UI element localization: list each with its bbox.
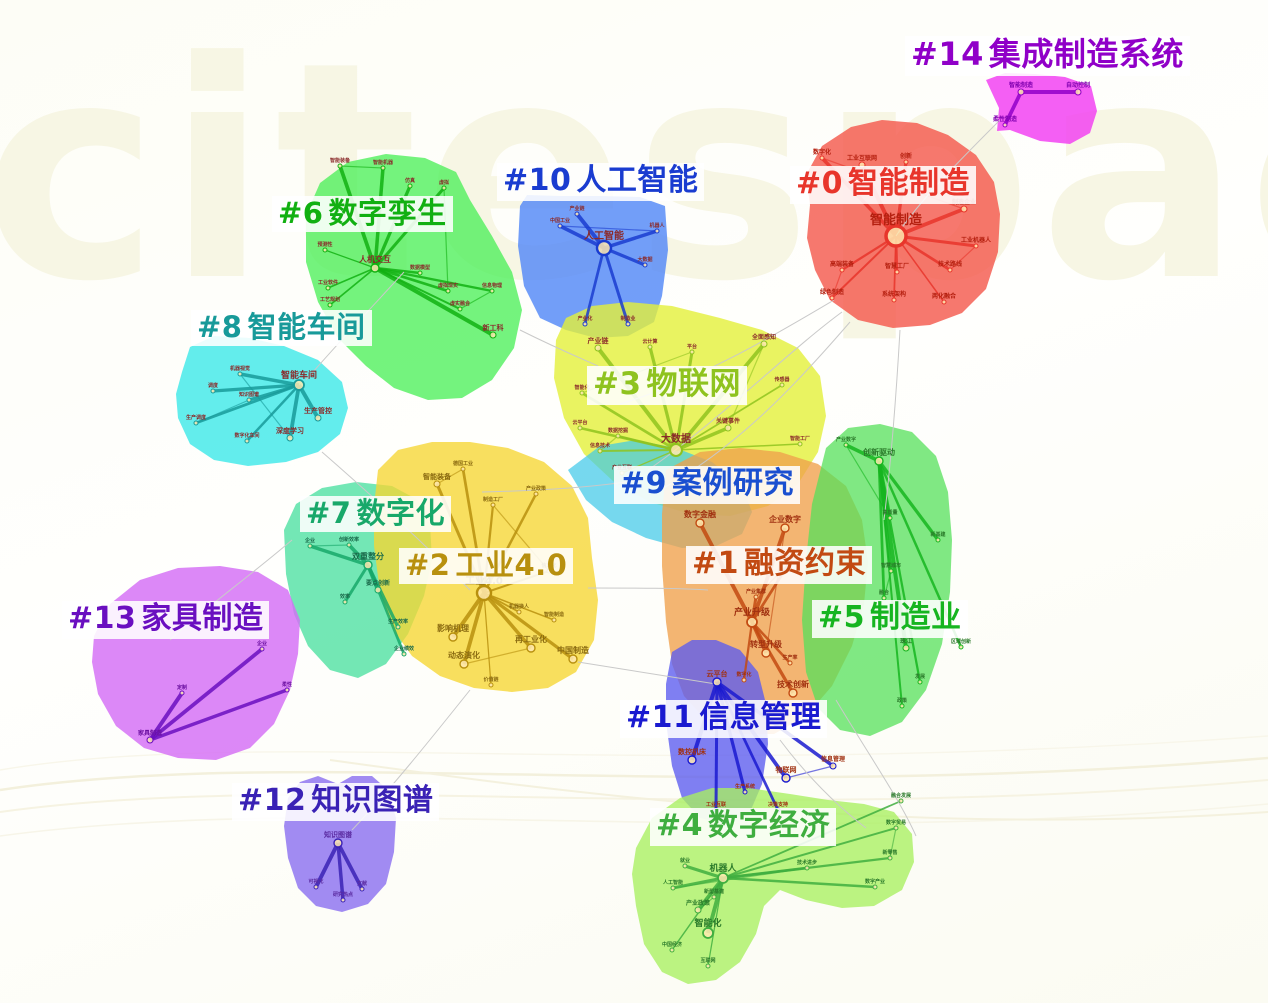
cluster-label-13[interactable]: #13家具制造	[62, 601, 269, 639]
node-marker[interactable]	[326, 286, 330, 290]
node-marker[interactable]	[706, 964, 710, 968]
node-term-label: 发展	[914, 673, 925, 680]
node-term-label: 机器视觉	[229, 365, 250, 372]
node-term-label: 动态演化	[448, 650, 480, 660]
node-marker[interactable]	[517, 610, 521, 614]
node-term-label: 要点创新	[366, 579, 390, 587]
node-marker[interactable]	[527, 644, 535, 652]
node-term-label: 新零售	[882, 849, 897, 856]
cluster-hull-13	[92, 566, 300, 760]
node-marker[interactable]	[211, 389, 215, 393]
node-term-label: 企业数字	[768, 514, 801, 524]
node-marker[interactable]	[974, 244, 978, 248]
node-term-label: 信息技术	[590, 442, 610, 449]
node-term-label: 云平台	[707, 669, 728, 678]
node-term-label: 物联网	[776, 765, 797, 774]
node-term-label: 生产系统	[735, 783, 755, 790]
cluster-label-0[interactable]: #0智能制造	[790, 166, 976, 204]
node-term-label: 创新效率	[338, 536, 359, 543]
node-term-label: 柔性	[281, 681, 292, 688]
node-marker[interactable]	[147, 737, 153, 743]
node-marker[interactable]	[690, 350, 694, 354]
node-term-label: 数控机床	[678, 747, 707, 756]
node-marker[interactable]	[323, 248, 327, 252]
node-marker[interactable]	[873, 885, 877, 889]
node-term-label: 生产率	[782, 654, 797, 661]
node-marker[interactable]	[458, 307, 462, 311]
node-term-label: 关键事件	[716, 417, 740, 425]
node-term-label: 智能机器	[373, 159, 394, 166]
node-marker[interactable]	[780, 383, 784, 387]
node-term-label: 制造工厂	[483, 496, 503, 503]
node-marker[interactable]	[670, 948, 674, 952]
node-marker[interactable]	[754, 595, 758, 599]
node-marker[interactable]	[334, 839, 342, 847]
cluster-number: #8	[197, 310, 242, 344]
cluster-number: #1	[692, 546, 739, 581]
node-term-label: 区域创新	[951, 638, 971, 645]
cluster-number: #4	[656, 808, 703, 843]
node-term-label: 企业绩效	[393, 645, 414, 652]
node-marker[interactable]	[762, 649, 770, 657]
node-marker[interactable]	[725, 425, 731, 431]
node-term-label: 虚拟	[439, 179, 449, 186]
node-term-label: 研究热点	[333, 891, 353, 898]
node-term-label: 中国工业	[550, 217, 570, 224]
cluster-hull-6	[306, 154, 522, 400]
node-term-label: 转型升级	[750, 639, 783, 649]
node-term-label: 人工智能	[662, 879, 683, 886]
node-term-label: 新基建	[930, 531, 946, 538]
node-term-label: 机器人	[709, 862, 737, 874]
node-marker[interactable]	[598, 449, 602, 453]
node-marker[interactable]	[534, 492, 538, 496]
node-term-label: 效率	[340, 593, 350, 600]
node-term-label: 仿真	[405, 177, 415, 184]
node-marker[interactable]	[718, 873, 728, 883]
node-term-label: 产业链	[588, 336, 609, 345]
node-term-label: 生产管控	[304, 406, 332, 415]
node-term-label: 文献	[357, 880, 367, 887]
node-marker[interactable]	[670, 444, 682, 456]
node-term-label: 智慧城市	[881, 562, 901, 569]
node-term-label: 高质量	[882, 509, 897, 516]
cluster-name: 工业4.0	[455, 548, 567, 582]
node-term-label: 技术进步	[797, 859, 817, 866]
node-marker[interactable]	[1018, 89, 1024, 95]
node-term-label: 工业互联网	[847, 154, 877, 162]
cluster-label-4[interactable]: #4数字经济	[650, 808, 836, 846]
node-term-label: 自动控制	[1066, 81, 1090, 89]
cluster-label-5[interactable]: #5制造业	[812, 600, 968, 638]
node-term-label: 技术路线	[938, 260, 962, 268]
node-term-label: 影响机理	[437, 623, 469, 633]
node-marker[interactable]	[655, 229, 659, 233]
node-marker[interactable]	[569, 655, 577, 663]
node-term-label: 智能工厂	[790, 435, 810, 442]
node-marker[interactable]	[805, 866, 809, 870]
node-marker[interactable]	[294, 380, 304, 390]
cluster-name: 集成制造系统	[989, 35, 1184, 73]
node-term-label: 工业互联	[706, 801, 726, 808]
node-marker[interactable]	[315, 415, 321, 421]
node-marker[interactable]	[461, 467, 465, 471]
node-term-label: 制造业	[620, 315, 635, 322]
node-marker[interactable]	[347, 543, 351, 547]
node-term-label: 产业数字	[836, 436, 856, 443]
cluster-number: #6	[278, 196, 323, 230]
cluster-name: 人工智能	[576, 163, 698, 198]
node-term-label: 产业升级	[734, 606, 771, 618]
cluster-label-1[interactable]: #1融资约束	[686, 546, 872, 584]
node-marker[interactable]	[595, 345, 601, 351]
node-marker[interactable]	[194, 421, 198, 425]
node-term-label: 新工科	[483, 323, 504, 332]
node-term-label: 机器人	[648, 222, 665, 229]
node-marker[interactable]	[375, 587, 381, 593]
node-marker[interactable]	[844, 443, 848, 447]
cluster-number: #14	[911, 35, 984, 73]
cluster-name: 智能制造	[848, 166, 970, 201]
node-marker[interactable]	[364, 561, 372, 569]
node-marker[interactable]	[238, 372, 242, 376]
node-marker[interactable]	[696, 519, 704, 527]
node-term-label: 工艺规划	[320, 296, 340, 303]
node-marker[interactable]	[830, 296, 834, 300]
cluster-label-11[interactable]: #11信息管理	[620, 700, 827, 738]
node-term-label: 信息管理	[821, 755, 845, 763]
node-marker[interactable]	[314, 885, 318, 889]
node-marker[interactable]	[308, 544, 312, 548]
node-term-label: 生产效率	[388, 618, 408, 625]
cluster-label-8[interactable]: #8智能车间	[191, 310, 372, 346]
cluster-label-6[interactable]: #6数字孪生	[272, 196, 453, 232]
cluster-hull-8	[176, 336, 348, 466]
node-term-label: 平台	[687, 343, 697, 350]
node-term-label: 知识图谱	[323, 830, 352, 839]
node-marker[interactable]	[788, 661, 792, 665]
node-marker[interactable]	[489, 683, 493, 687]
node-marker[interactable]	[245, 439, 249, 443]
node-marker[interactable]	[446, 289, 450, 293]
node-marker[interactable]	[371, 264, 379, 272]
cluster-number: #11	[626, 700, 694, 735]
node-marker[interactable]	[491, 503, 495, 507]
node-marker[interactable]	[597, 241, 611, 255]
node-marker[interactable]	[381, 166, 385, 170]
node-marker[interactable]	[742, 678, 746, 682]
node-term-label: 决策支持	[768, 801, 788, 808]
node-term-label: 云计算	[642, 338, 657, 345]
cluster-name: 数字化	[356, 496, 445, 530]
node-term-label: 智能装备	[423, 472, 452, 481]
node-marker[interactable]	[338, 164, 342, 168]
node-term-label: 系统架构	[882, 290, 906, 298]
node-term-label: 人工智能	[584, 229, 624, 242]
node-marker[interactable]	[287, 435, 293, 441]
cluster-label-14[interactable]: #14集成制造系统	[905, 36, 1190, 76]
node-marker[interactable]	[782, 774, 790, 782]
node-marker[interactable]	[789, 689, 797, 697]
node-marker[interactable]	[477, 586, 491, 600]
node-term-label: 高端装备	[830, 260, 855, 268]
node-marker[interactable]	[616, 434, 620, 438]
node-term-label: 传感器	[773, 376, 790, 383]
node-term-label: 智能装备	[330, 157, 351, 164]
node-term-label: 中国经济	[662, 941, 683, 948]
node-term-label: 产业化	[577, 315, 592, 322]
node-marker[interactable]	[959, 645, 963, 649]
cluster-number: #12	[238, 783, 306, 818]
node-marker[interactable]	[490, 289, 494, 293]
node-marker[interactable]	[889, 569, 893, 573]
node-marker[interactable]	[688, 756, 696, 764]
node-term-label: 全面感知	[751, 333, 776, 341]
node-marker[interactable]	[260, 647, 264, 651]
node-marker[interactable]	[247, 398, 251, 402]
node-marker[interactable]	[449, 633, 457, 641]
node-marker[interactable]	[948, 268, 952, 272]
node-term-label: 产业政策	[686, 899, 710, 907]
node-marker[interactable]	[713, 678, 721, 686]
node-marker[interactable]	[712, 895, 716, 899]
node-marker[interactable]	[285, 688, 289, 692]
cluster-number: #5	[818, 600, 865, 635]
cluster-name: 数字孪生	[328, 196, 446, 230]
node-term-label: 机器换人	[508, 603, 530, 610]
node-marker[interactable]	[900, 704, 904, 708]
node-term-label: 中国制造	[557, 645, 589, 655]
node-term-label: 预测性	[317, 241, 332, 248]
cluster-label-9[interactable]: #9案例研究	[614, 466, 800, 504]
node-marker[interactable]	[904, 160, 908, 164]
cluster-name: 知识图谱	[311, 783, 433, 818]
node-marker[interactable]	[798, 442, 802, 446]
node-marker[interactable]	[626, 322, 630, 326]
node-term-label: 再工业化	[515, 634, 547, 644]
node-term-label: 融合发展	[891, 792, 911, 799]
node-marker[interactable]	[781, 524, 789, 532]
node-term-label: 数字化车间	[234, 432, 259, 439]
node-term-label: 虚实融合	[450, 300, 471, 307]
cluster-number: #10	[503, 163, 571, 198]
node-term-label: 信息物理	[482, 282, 502, 289]
node-term-label: 技术创新	[777, 679, 809, 689]
node-marker[interactable]	[490, 332, 496, 338]
node-term-label: 政策	[897, 697, 908, 704]
node-marker[interactable]	[703, 928, 713, 938]
cluster-name: 信息管理	[699, 700, 821, 735]
node-marker[interactable]	[180, 691, 184, 695]
node-term-label: 产业集群	[746, 588, 766, 595]
node-term-label: 数据挖掘	[608, 427, 628, 434]
node-marker[interactable]	[583, 322, 587, 326]
node-marker[interactable]	[558, 224, 562, 228]
node-term-label: 价值链	[483, 676, 499, 683]
node-marker[interactable]	[899, 799, 903, 803]
node-marker[interactable]	[1003, 123, 1007, 127]
node-term-label: 数字化	[813, 148, 831, 156]
node-term-label: 智能制造	[544, 611, 565, 618]
node-marker[interactable]	[575, 212, 579, 216]
node-marker[interactable]	[761, 341, 767, 347]
node-term-label: 定制	[176, 684, 187, 691]
node-marker[interactable]	[1075, 89, 1081, 95]
node-marker[interactable]	[892, 298, 896, 302]
node-term-label: 数据模型	[410, 264, 430, 271]
cluster-label-10[interactable]: #10人工智能	[497, 163, 704, 201]
node-term-label: 智能车间	[281, 369, 317, 381]
node-marker[interactable]	[643, 263, 647, 267]
cluster-name: 物联网	[647, 366, 742, 402]
node-term-label: 就业	[680, 857, 690, 864]
node-term-label: 人机交互	[359, 254, 391, 264]
cluster-name: 智能车间	[247, 310, 365, 344]
cluster-number: #0	[796, 166, 843, 201]
node-marker[interactable]	[875, 457, 883, 465]
node-term-label: 生产调度	[186, 414, 207, 421]
node-marker[interactable]	[942, 300, 946, 304]
node-marker[interactable]	[936, 538, 940, 542]
node-term-label: 创新	[899, 152, 912, 160]
node-term-label: 融合	[879, 589, 890, 596]
node-marker[interactable]	[396, 625, 400, 629]
cluster-name: 融资约束	[744, 546, 866, 581]
node-term-label: 互联网	[700, 957, 715, 964]
node-term-label: 工业机器人	[961, 236, 992, 244]
node-marker[interactable]	[888, 516, 892, 520]
node-term-label: 智能化	[694, 917, 721, 929]
node-term-label: 企业	[304, 537, 315, 544]
cluster-label-7[interactable]: #7数字化	[300, 496, 451, 532]
node-marker[interactable]	[903, 645, 909, 651]
cluster-label-2[interactable]: #2工业4.0	[399, 548, 573, 584]
node-term-label: 数字贸易	[886, 819, 906, 826]
edge	[600, 450, 676, 451]
cluster-number: #7	[306, 496, 351, 530]
node-marker[interactable]	[961, 206, 967, 212]
node-term-label: 产业政策	[526, 485, 547, 492]
node-marker[interactable]	[747, 617, 757, 627]
node-term-label: 调度	[208, 382, 219, 389]
cluster-number: #3	[593, 366, 642, 402]
node-marker[interactable]	[578, 426, 582, 430]
node-term-label: 柔性制造	[992, 115, 1017, 123]
node-marker[interactable]	[341, 898, 345, 902]
cluster-number: #2	[405, 548, 450, 582]
node-term-label: 数字产业	[865, 878, 885, 885]
node-term-label: 工业软件	[318, 279, 338, 286]
node-term-label: 珠江	[900, 637, 912, 645]
node-marker[interactable]	[820, 156, 824, 160]
cluster-number: #9	[620, 466, 667, 501]
node-term-label: 知识图谱	[239, 391, 259, 398]
node-marker[interactable]	[442, 186, 446, 190]
node-marker[interactable]	[888, 856, 892, 860]
node-marker[interactable]	[552, 618, 556, 622]
cluster-name: 家具制造	[141, 601, 263, 636]
node-marker[interactable]	[360, 887, 364, 891]
node-marker[interactable]	[648, 345, 652, 349]
node-marker[interactable]	[402, 652, 406, 656]
node-marker[interactable]	[343, 600, 347, 604]
node-marker[interactable]	[918, 680, 922, 684]
node-term-label: 云平台	[572, 419, 587, 426]
node-marker[interactable]	[418, 271, 422, 275]
node-term-label: 智慧工厂	[885, 262, 909, 270]
node-marker[interactable]	[830, 763, 836, 769]
node-marker[interactable]	[840, 268, 844, 272]
cluster-name: 数字经济	[708, 808, 830, 843]
node-marker[interactable]	[434, 481, 440, 487]
node-marker[interactable]	[460, 660, 468, 668]
node-term-label: 虚拟现实	[438, 282, 458, 289]
node-term-label: 德国工业	[452, 460, 473, 467]
citespace-cluster-map: citespace 智能制造工业互联网数字化创新制造企	[0, 0, 1268, 1003]
node-term-label: 双重整分	[352, 551, 384, 561]
node-term-label: 大数据	[661, 432, 691, 445]
node-term-label: 新型基建	[704, 888, 725, 895]
node-term-label: 产业链	[569, 205, 585, 212]
cluster-name: 制造业	[870, 600, 962, 635]
node-marker[interactable]	[580, 391, 584, 395]
node-term-label: 企业	[256, 640, 267, 647]
cluster-label-12[interactable]: #12知识图谱	[232, 783, 439, 821]
node-marker[interactable]	[683, 864, 687, 868]
node-marker[interactable]	[328, 303, 332, 307]
node-marker[interactable]	[894, 826, 898, 830]
node-term-label: 数字化	[736, 671, 751, 678]
node-marker[interactable]	[671, 886, 675, 890]
node-marker[interactable]	[408, 184, 412, 188]
node-term-label: 可视化	[308, 878, 323, 885]
node-term-label: 智能制造	[1009, 81, 1033, 89]
cluster-label-3[interactable]: #3物联网	[587, 366, 747, 405]
node-marker[interactable]	[895, 270, 899, 274]
node-marker[interactable]	[886, 226, 906, 246]
node-term-label: 家具制造	[138, 729, 162, 737]
cluster-number: #13	[68, 601, 136, 636]
cluster-name: 案例研究	[672, 466, 794, 501]
node-marker[interactable]	[695, 907, 701, 913]
node-term-label: 深度学习	[276, 426, 304, 435]
node-term-label: 创新驱动	[862, 447, 895, 457]
node-term-label: 大数据	[637, 256, 652, 263]
node-term-label: 绿色制造	[820, 288, 844, 296]
node-term-label: 智能制造	[870, 212, 923, 228]
node-term-label: 两化融合	[932, 292, 957, 300]
cluster-hull-layer	[92, 73, 1097, 984]
node-marker[interactable]	[743, 790, 747, 794]
node-term-label: 数字金融	[684, 509, 716, 519]
